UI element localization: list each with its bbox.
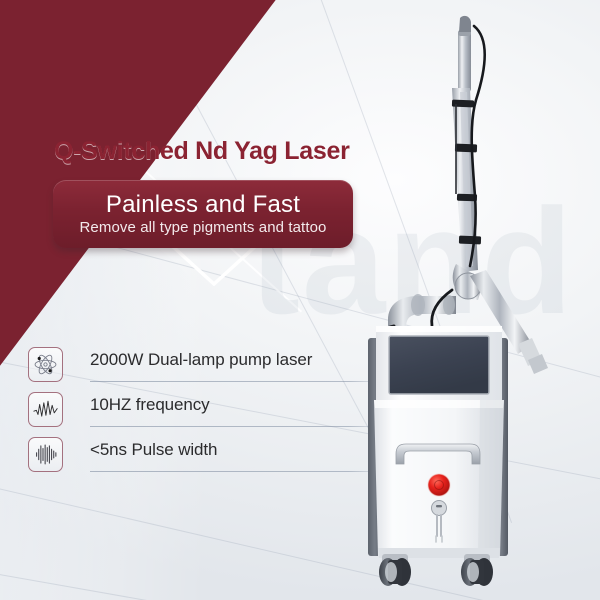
articulated-arm (378, 16, 548, 374)
pulse-icon (28, 437, 63, 472)
feature-divider (90, 381, 384, 382)
promo-banner-subtitle: Remove all type pigments and tattoo (80, 220, 327, 236)
page-title: Q-Switched Nd Yag Laser (54, 137, 350, 166)
feature-divider (90, 471, 384, 472)
feature-label: 10HZ frequency (90, 395, 210, 415)
q-switched-nd-yag-laser-machine (352, 8, 600, 600)
feature-item: 10HZ frequency (28, 390, 384, 435)
waveform-icon (28, 392, 63, 427)
feature-label: 2000W Dual-lamp pump laser (90, 350, 312, 370)
chevron-decoration (168, 242, 260, 286)
feature-divider (90, 426, 384, 427)
feature-item: <5ns Pulse width (28, 435, 384, 480)
feature-label: <5ns Pulse width (90, 440, 217, 460)
feature-item: 2000W Dual-lamp pump laser (28, 345, 384, 390)
advertisement-banner: tand Q-Switched Nd Yag Laser Painless an… (0, 0, 600, 600)
promo-banner-title: Painless and Fast (106, 192, 300, 217)
machine-body (368, 326, 508, 558)
emergency-stop-button[interactable] (428, 474, 450, 496)
caster-wheel-right (461, 554, 493, 586)
touch-screen (389, 336, 489, 394)
feature-list: 2000W Dual-lamp pump laser 10HZ frequenc… (28, 345, 384, 480)
caster-wheel-left (379, 554, 411, 586)
atom-icon (28, 347, 63, 382)
promo-banner: Painless and Fast Remove all type pigmen… (53, 180, 353, 248)
